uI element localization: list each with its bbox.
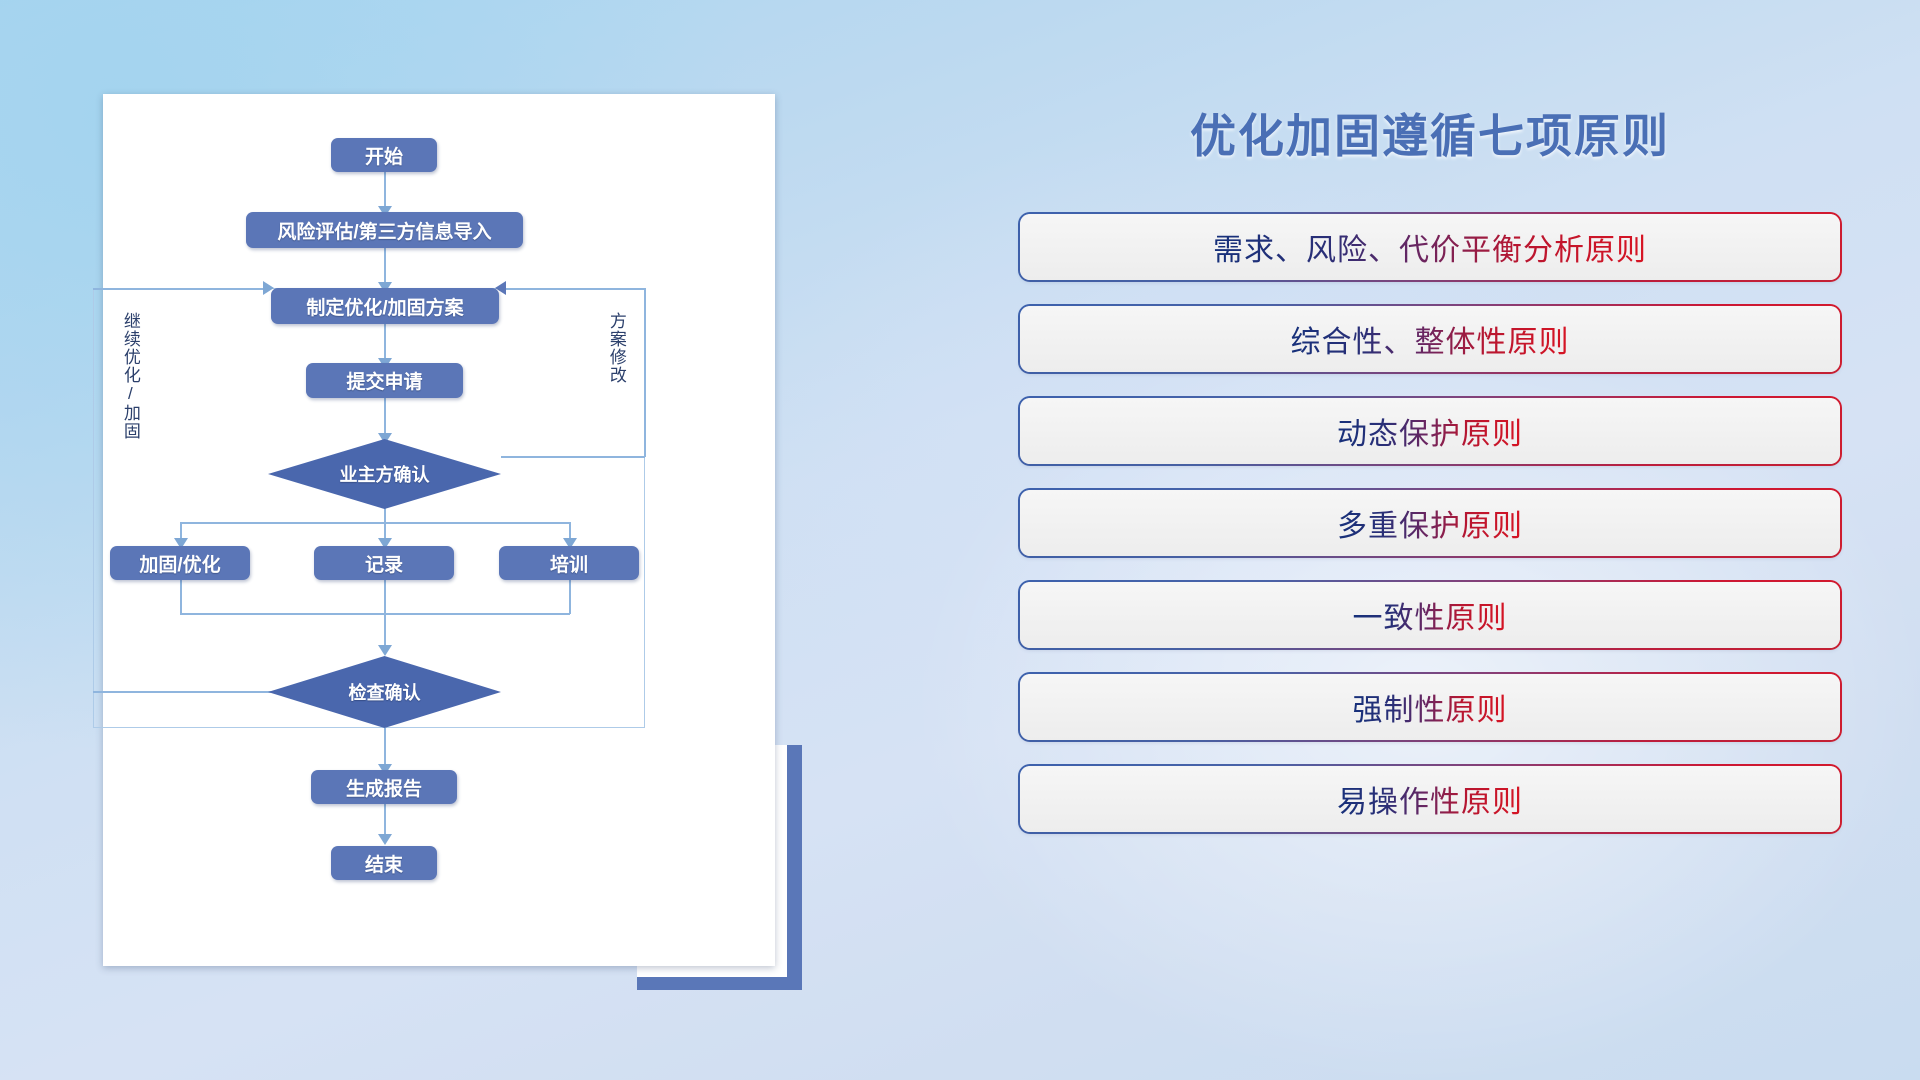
- flow-node-owner-confirm-label: 业主方确认: [268, 439, 501, 509]
- flow-node-risk-assessment[interactable]: 风险评估/第三方信息导入: [246, 212, 523, 248]
- arrowhead-report-to-end: [378, 834, 392, 845]
- principle-card[interactable]: 易操作性原则: [1020, 766, 1840, 832]
- flow-node-check-confirm-label: 检查确认: [268, 656, 501, 728]
- flow-node-reinforce-label: 加固/优化: [139, 550, 220, 577]
- arrowhead-merge-to-check: [378, 645, 392, 656]
- flowchart-card: 开始 风险评估/第三方信息导入 制定优化/加固方案 提交申请 业主方确认 加固/…: [103, 94, 775, 966]
- principle-card[interactable]: 综合性、整体性原则: [1020, 306, 1840, 372]
- edge-label-plan-revision: 方案修改: [607, 312, 625, 384]
- panel-title: 优化加固遵循七项原则: [1020, 100, 1840, 166]
- flow-node-submit-application-label: 提交申请: [346, 367, 422, 394]
- flow-node-submit-application[interactable]: 提交申请: [306, 363, 463, 398]
- principle-list: 需求、风险、代价平衡分析原则 综合性、整体性原则 动态保护原则 多重保护原则 一…: [1020, 214, 1840, 832]
- flow-node-record-label: 记录: [365, 550, 403, 577]
- flow-node-plan-label: 制定优化/加固方案: [306, 293, 463, 320]
- flow-node-plan[interactable]: 制定优化/加固方案: [271, 288, 499, 324]
- flow-node-risk-assessment-label: 风险评估/第三方信息导入: [277, 217, 491, 244]
- flow-node-end-label: 结束: [365, 850, 403, 877]
- principle-label: 综合性、整体性原则: [1291, 317, 1570, 361]
- principle-card[interactable]: 需求、风险、代价平衡分析原则: [1020, 214, 1840, 280]
- connector-right-loop-vertical: [644, 288, 646, 457]
- connector-right-loop-horizontal: [503, 288, 645, 290]
- flow-node-start[interactable]: 开始: [331, 138, 437, 172]
- connector-split-bar: [180, 522, 570, 524]
- edge-label-continue-optimize: 继续优化/加固: [121, 312, 139, 440]
- principle-card[interactable]: 多重保护原则: [1020, 490, 1840, 556]
- flow-node-generate-report-label: 生成报告: [346, 774, 422, 801]
- connector-check-left: [93, 691, 271, 693]
- principle-card[interactable]: 动态保护原则: [1020, 398, 1840, 464]
- principles-panel: 优化加固遵循七项原则 需求、风险、代价平衡分析原则 综合性、整体性原则 动态保护…: [1020, 88, 1840, 1008]
- flow-node-check-confirm[interactable]: 检查确认: [268, 656, 501, 728]
- principle-label: 易操作性原则: [1337, 777, 1523, 821]
- principle-card[interactable]: 一致性原则: [1020, 582, 1840, 648]
- flow-node-record[interactable]: 记录: [314, 546, 454, 580]
- principle-label: 强制性原则: [1353, 685, 1508, 729]
- flow-node-reinforce[interactable]: 加固/优化: [110, 546, 250, 580]
- principle-card[interactable]: 强制性原则: [1020, 674, 1840, 740]
- principle-label: 需求、风险、代价平衡分析原则: [1213, 225, 1647, 269]
- connector-owner-right: [501, 456, 645, 458]
- flow-node-owner-confirm[interactable]: 业主方确认: [268, 439, 501, 509]
- principle-label: 一致性原则: [1353, 593, 1508, 637]
- flow-node-training-label: 培训: [550, 550, 588, 577]
- principle-label: 动态保护原则: [1337, 409, 1523, 453]
- connector-left-loop-horizontal: [93, 288, 268, 290]
- flow-node-start-label: 开始: [365, 142, 403, 169]
- flow-node-end[interactable]: 结束: [331, 846, 437, 880]
- connector-merge-bar: [180, 613, 570, 615]
- principle-label: 多重保护原则: [1337, 501, 1523, 545]
- flow-node-generate-report[interactable]: 生成报告: [311, 770, 457, 804]
- flow-node-training[interactable]: 培训: [499, 546, 639, 580]
